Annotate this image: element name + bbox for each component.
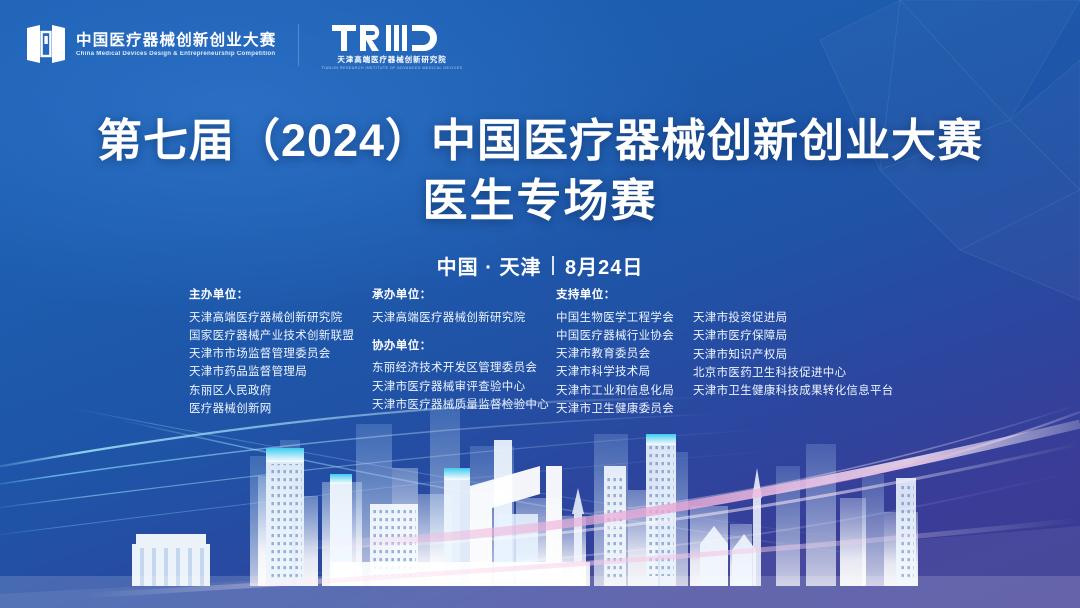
logo-divider xyxy=(298,24,299,66)
competition-logo-cn: 中国医疗器械创新创业大赛 xyxy=(76,33,276,49)
list-item: 国家医疗器械产业技术创新联盟 xyxy=(189,327,372,345)
organizers-column: 主办单位： 天津高端医疗器械创新研究院 国家医疗器械产业技术创新联盟 天津市市场… xyxy=(189,290,372,418)
list-item: 天津市工业和信息化局 xyxy=(556,382,693,400)
list-item: 中国医疗器械行业协会 xyxy=(556,327,693,345)
list-item: 天津市教育委员会 xyxy=(556,345,693,363)
organizers-heading: 主办单位： xyxy=(189,290,372,302)
event-location: 中国 · 天津 xyxy=(437,251,542,280)
supporters-column-continued: 天津市投资促进局 天津市医疗保障局 天津市知识产权局 北京市医药卫生科技促进中心… xyxy=(693,290,903,400)
list-item: 天津高端医疗器械创新研究院 xyxy=(189,309,372,327)
list-item: 天津市知识产权局 xyxy=(693,346,903,364)
undertaker-heading: 承办单位： xyxy=(372,290,556,302)
list-item: 天津高端医疗器械创新研究院 xyxy=(372,309,556,327)
column-spacer xyxy=(372,327,556,341)
event-date: 8月24日 xyxy=(565,251,643,280)
poster-canvas: 中国医疗器械创新创业大赛 China Medical Devices Desig… xyxy=(0,0,1080,608)
competition-logo-en: China Medical Devices Design & Entrepren… xyxy=(76,51,280,57)
logo-bar: 中国医疗器械创新创业大赛 China Medical Devices Desig… xyxy=(24,22,463,70)
event-meta: 中国 · 天津 8月24日 xyxy=(0,251,1080,280)
supporters-column: 支持单位： 中国生物医学工程学会 中国医疗器械行业协会 天津市教育委员会 天津市… xyxy=(556,290,693,418)
list-item: 天津市药品监督管理局 xyxy=(189,363,372,381)
list-item: 中国生物医学工程学会 xyxy=(556,309,693,327)
sub-title: 医生专场赛 xyxy=(0,172,1080,230)
meta-separator xyxy=(552,256,554,275)
institute-logo-cn: 天津高端医疗器械创新研究院 xyxy=(337,56,446,64)
supporters-heading: 支持单位： xyxy=(556,290,693,302)
list-item: 天津市医疗保障局 xyxy=(693,327,903,345)
undertaker-column: 承办单位： 天津高端医疗器械创新研究院 协办单位： 东丽经济技术开发区管理委员会… xyxy=(372,290,556,414)
list-item: 北京市医药卫生科技促进中心 xyxy=(693,364,903,382)
list-item: 天津市市场监督管理委员会 xyxy=(189,345,372,363)
co-organizers-heading: 协办单位： xyxy=(372,341,556,353)
list-item: 天津市科学技术局 xyxy=(556,363,693,381)
institute-logo-en: TIANJIN RESEARCH INSTITUTE OF ADVANCED M… xyxy=(321,67,462,71)
list-item: 东丽经济技术开发区管理委员会 xyxy=(372,359,556,377)
list-item: 医疗器械创新网 xyxy=(189,400,372,418)
list-item: 天津市卫生健康科技成果转化信息平台 xyxy=(693,382,903,400)
list-item: 天津市投资促进局 xyxy=(693,309,903,327)
list-item: 东丽区人民政府 xyxy=(189,382,372,400)
list-item: 天津市医疗器械质量监督检验中心 xyxy=(372,396,556,414)
title-block: 第七届（2024）中国医疗器械创新创业大赛 医生专场赛 中国 · 天津 8月24… xyxy=(0,112,1080,280)
open-door-emblem-icon xyxy=(24,22,68,66)
institute-logo[interactable]: 天津高端医疗器械创新研究院 TIANJIN RESEARCH INSTITUTE… xyxy=(321,22,462,70)
list-item: 天津市卫生健康委员会 xyxy=(556,400,693,418)
organizations-block: 主办单位： 天津高端医疗器械创新研究院 国家医疗器械产业技术创新联盟 天津市市场… xyxy=(189,290,903,418)
triid-wordmark-icon xyxy=(332,23,452,53)
main-title: 第七届（2024）中国医疗器械创新创业大赛 xyxy=(0,112,1080,170)
competition-logo[interactable]: 中国医疗器械创新创业大赛 China Medical Devices Desig… xyxy=(24,22,276,66)
list-item: 天津市医疗器械审评查验中心 xyxy=(372,378,556,396)
